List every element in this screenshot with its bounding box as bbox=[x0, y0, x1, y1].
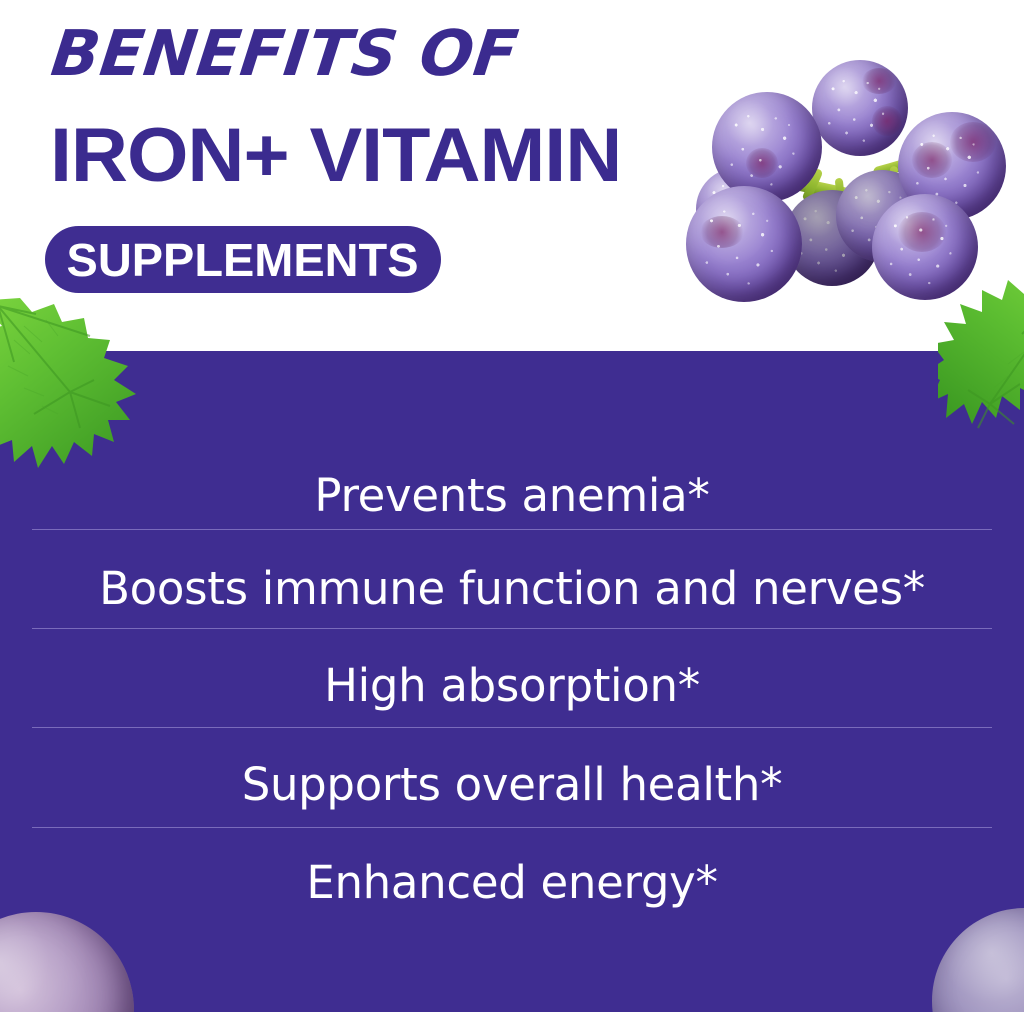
grape-leaf-right-icon bbox=[938, 272, 1024, 458]
supplements-badge: SUPPLEMENTS bbox=[45, 226, 441, 293]
supplements-badge-label: SUPPLEMENTS bbox=[67, 233, 419, 287]
grape-berry bbox=[686, 186, 802, 302]
page-title: IRON+ VITAMIN bbox=[50, 118, 621, 194]
list-divider bbox=[32, 529, 992, 530]
benefit-label: Enhanced energy* bbox=[306, 857, 717, 909]
list-item: Enhanced energy* bbox=[0, 848, 1024, 918]
page-subtitle-script: BENEFITS OF bbox=[48, 20, 522, 88]
list-divider bbox=[32, 827, 992, 828]
benefit-label: Boosts immune function and nerves* bbox=[99, 563, 925, 615]
benefit-label: High absorption* bbox=[324, 660, 700, 712]
list-divider bbox=[32, 727, 992, 728]
grape-berry bbox=[812, 60, 908, 156]
benefit-label: Prevents anemia* bbox=[314, 470, 709, 522]
list-item: High absorption* bbox=[0, 651, 1024, 721]
list-item: Boosts immune function and nerves* bbox=[0, 554, 1024, 624]
infographic-poster: BENEFITS OF IRON+ VITAMIN SUPPLEMENTS Pr… bbox=[0, 0, 1024, 1012]
grape-berry bbox=[712, 92, 822, 202]
list-item: Supports overall health* bbox=[0, 750, 1024, 820]
grape-leaf-left-icon bbox=[0, 296, 174, 476]
list-divider bbox=[32, 628, 992, 629]
benefit-label: Supports overall health* bbox=[242, 759, 783, 811]
